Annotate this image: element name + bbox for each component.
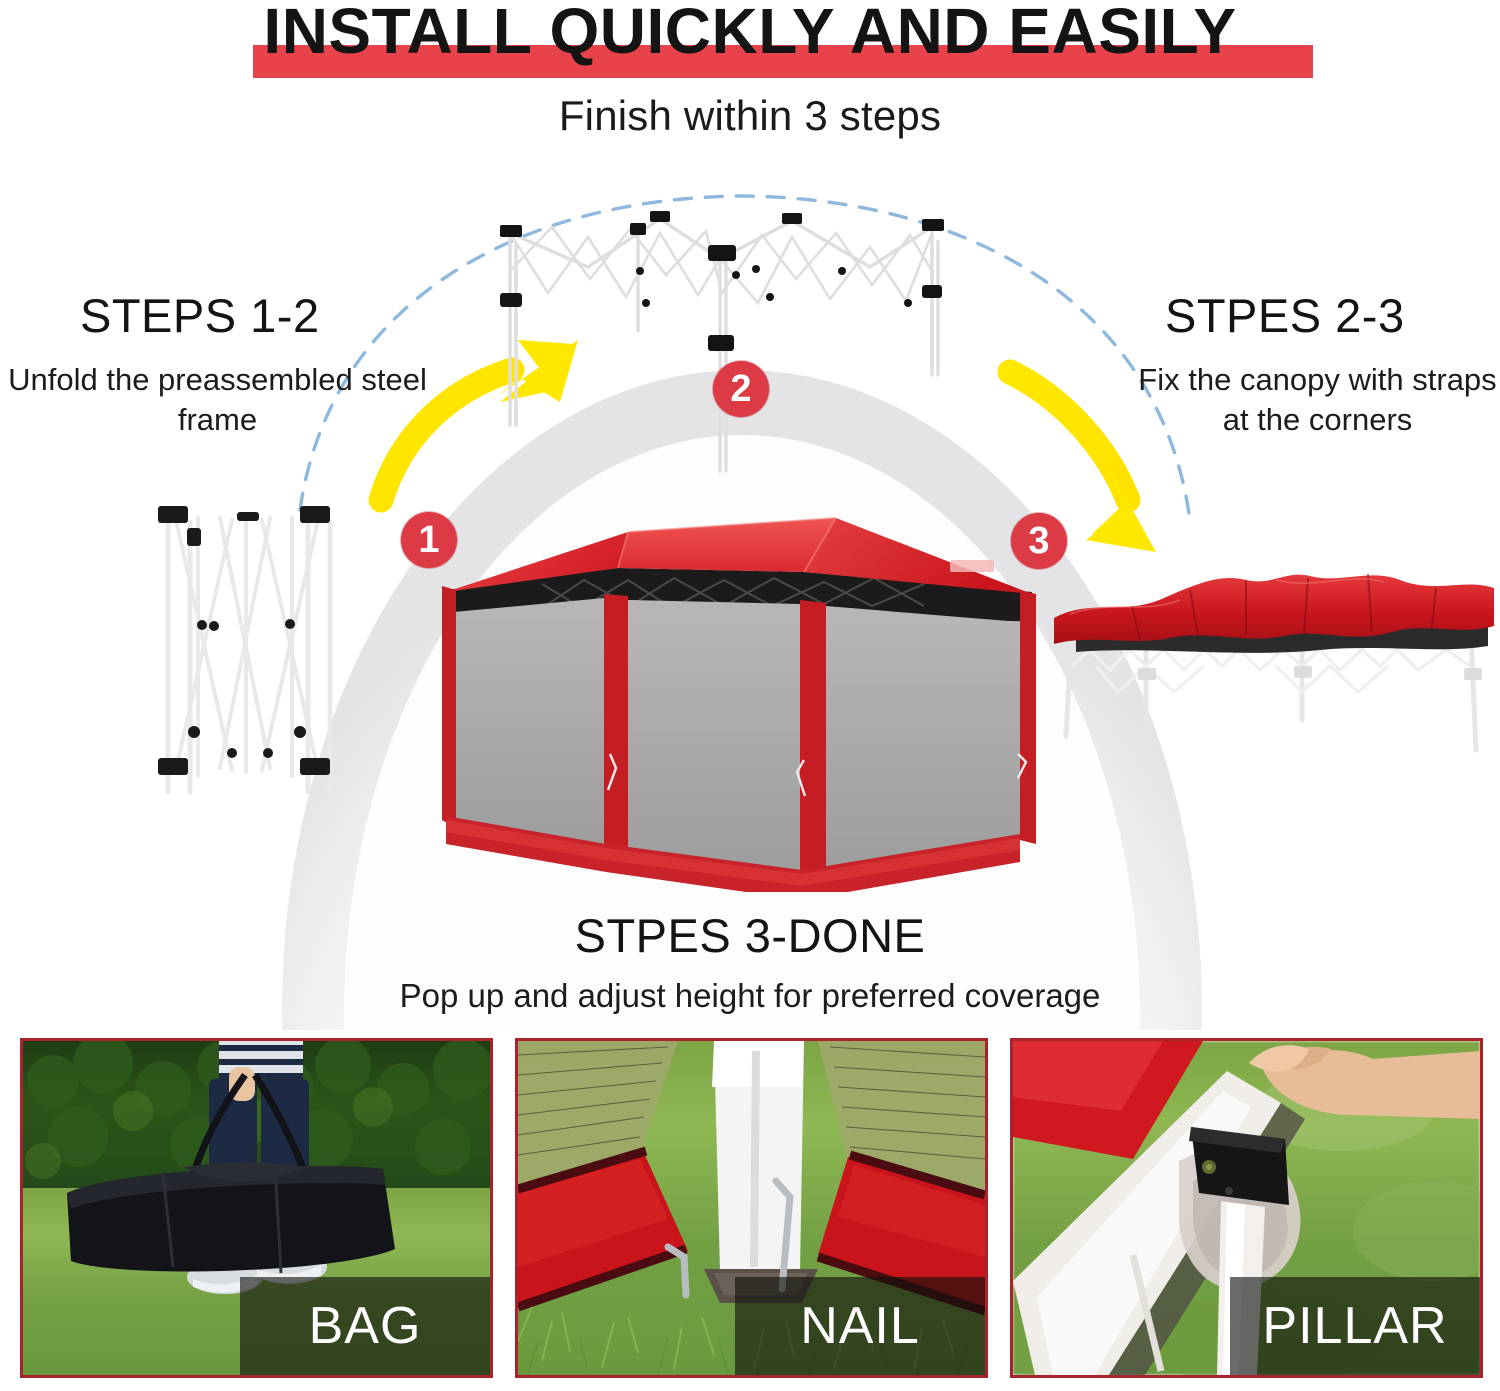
- photo-label-bag: BAG: [240, 1277, 490, 1375]
- step-badge-3: 3: [1011, 513, 1067, 569]
- photo-label-pillar: PILLAR: [1230, 1277, 1480, 1375]
- step-description-right: Fix the canopy with straps at the corner…: [1135, 360, 1500, 441]
- expanded-frame-illustration: [470, 175, 970, 475]
- photo-label-nail: NAIL: [735, 1277, 985, 1375]
- folded-frame-illustration: [140, 500, 360, 800]
- step-badge-1: 1: [401, 512, 457, 568]
- step-description-bottom: Pop up and adjust height for preferred c…: [0, 975, 1500, 1018]
- step-badge-2: 2: [713, 361, 769, 417]
- detail-photo-pillar: PILLAR: [1010, 1038, 1483, 1378]
- canopy-over-frame-illustration: [1040, 540, 1500, 790]
- detail-photo-nail: NAIL: [515, 1038, 988, 1378]
- detail-photo-row: BAG: [20, 1038, 1484, 1378]
- corner-bracket-icon: [1189, 1127, 1289, 1205]
- step-heading-left: STEPS 1-2: [80, 288, 320, 343]
- brand-logo: [950, 560, 994, 572]
- step-heading-bottom: STPES 3-DONE: [0, 908, 1500, 963]
- step-description-left: Unfold the preassembled steel frame: [0, 360, 435, 441]
- assembled-tent-illustration: [432, 472, 1052, 892]
- detail-photo-bag: BAG: [20, 1038, 493, 1378]
- step-heading-right: STPES 2-3: [1165, 288, 1405, 343]
